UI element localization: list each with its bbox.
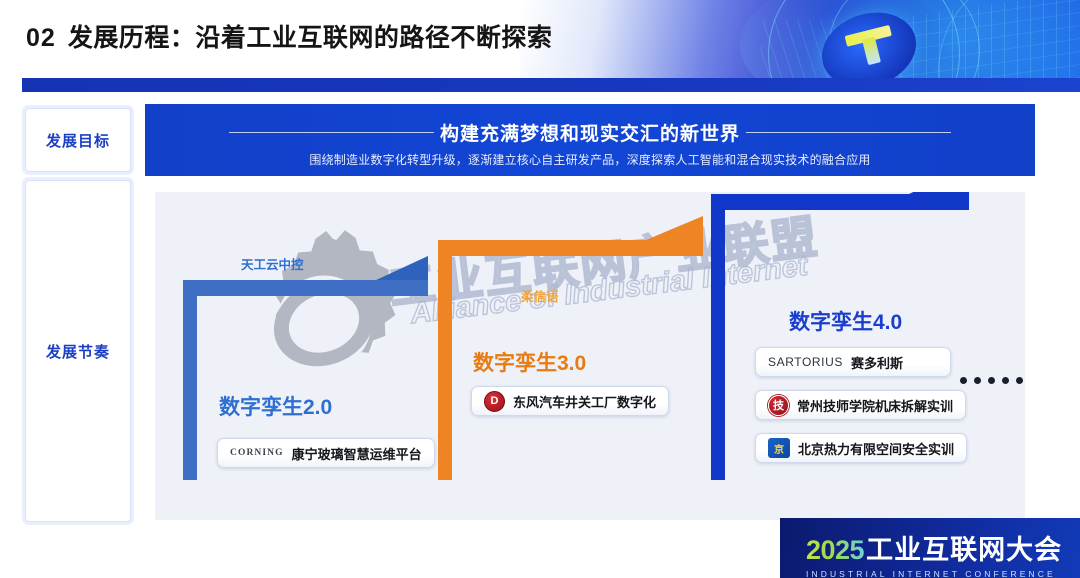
header-accent-bar-notch [0, 78, 22, 92]
stage-4-chip-1-text: 常州技师学院机床拆解实训 [797, 396, 953, 415]
ellipsis-dot [988, 377, 995, 384]
stage-4-chip-1[interactable]: 技 常州技师学院机床拆解实训 [755, 390, 966, 420]
footer-name-cn: 工业互联网大会 [866, 528, 1062, 567]
corning-logo: CORNING [230, 448, 284, 458]
stage-3-chip-0[interactable]: D 东风汽车井关工厂数字化 [471, 386, 669, 416]
banner-rule-left [229, 132, 434, 133]
goal-banner: 构建充满梦想和现实交汇的新世界 围绕制造业数字化转型升级，逐渐建立核心自主研发产… [145, 104, 1035, 176]
sidebar-item-goal-label: 发展目标 [46, 130, 110, 151]
beijing-logo: 京 [768, 438, 790, 458]
changzhou-logo: 技 [768, 395, 789, 416]
stage-4-title: 数字孪生4.0 [789, 306, 902, 336]
stage-4-arrow-icon [909, 192, 969, 194]
stage-3-top-bar [438, 240, 703, 256]
stage-4-chip-2-text: 北京热力有限空间安全实训 [798, 439, 954, 458]
stage-4-chip-2[interactable]: 京 北京热力有限空间安全实训 [755, 433, 967, 463]
footer-year: 2025 [806, 535, 864, 566]
page-title-number: 02 [26, 24, 56, 52]
conference-footer-logo: 2025 工业互联网大会 INDUSTRIAL INTERNET CONFERE… [780, 518, 1080, 578]
stage-4-top-bar [711, 194, 969, 210]
dongfeng-logo: D [484, 391, 505, 412]
stage-2-side-bar [183, 280, 197, 480]
header-accent-bar [0, 78, 1080, 92]
stage-2-chip-0[interactable]: CORNING 康宁玻璃智慧运维平台 [217, 438, 435, 468]
goal-banner-subtitle: 围绕制造业数字化转型升级，逐渐建立核心自主研发产品，深度探索人工智能和混合现实技… [145, 151, 1035, 168]
stage-3-side-bar [438, 240, 452, 480]
stage-2-top-bar [183, 280, 428, 296]
ellipsis-dot [1002, 377, 1009, 384]
stage-2-label: 天工云中控 [241, 254, 304, 273]
sartorius-logo: SARTORIUS [768, 355, 843, 369]
page-header: 02发展历程：沿着工业互联网的路径不断探索 [0, 0, 1080, 92]
stage-2-chip-0-text: 康宁玻璃智慧运维平台 [292, 444, 422, 463]
page-title: 02发展历程：沿着工业互联网的路径不断探索 [26, 18, 552, 54]
sidebar-item-goal[interactable]: 发展目标 [25, 108, 131, 172]
banner-rule-right [746, 132, 951, 133]
ellipsis-dot [960, 377, 967, 384]
ellipsis-dot [1016, 377, 1023, 384]
stage-3-title: 数字孪生3.0 [473, 347, 586, 377]
more-stages-ellipsis [960, 377, 1025, 384]
page-title-text: 发展历程：沿着工业互联网的路径不断探索 [68, 24, 553, 52]
stage-3-arrow-icon [646, 216, 703, 240]
stage-3-chip-0-text: 东风汽车井关工厂数字化 [513, 392, 656, 411]
footer-logo-inner: 2025 工业互联网大会 INDUSTRIAL INTERNET CONFERE… [806, 528, 1062, 578]
goal-banner-title-row: 构建充满梦想和现实交汇的新世界 [145, 118, 1035, 146]
sidebar-item-rhythm[interactable]: 发展节奏 [25, 180, 131, 522]
sidebar-item-rhythm-label: 发展节奏 [46, 341, 110, 362]
ellipsis-dot [974, 377, 981, 384]
stage-3-label: 柔信语 [521, 286, 559, 305]
stage-4-side-bar [711, 194, 725, 480]
roadmap-panel: 工业互联网产业联盟 Alliance of Industrial Interne… [155, 192, 1025, 520]
footer-name-en: INDUSTRIAL INTERNET CONFERENCE [806, 569, 1062, 578]
stage-4-chip-0-text: 赛多利斯 [851, 353, 903, 372]
stage-4-chip-0[interactable]: SARTORIUS 赛多利斯 [755, 347, 951, 377]
stage-2-title: 数字孪生2.0 [219, 391, 332, 421]
goal-banner-title: 构建充满梦想和现实交汇的新世界 [440, 119, 740, 146]
stage-2-arrow-icon [376, 256, 428, 280]
footer-logo-line1: 2025 工业互联网大会 [806, 528, 1062, 567]
